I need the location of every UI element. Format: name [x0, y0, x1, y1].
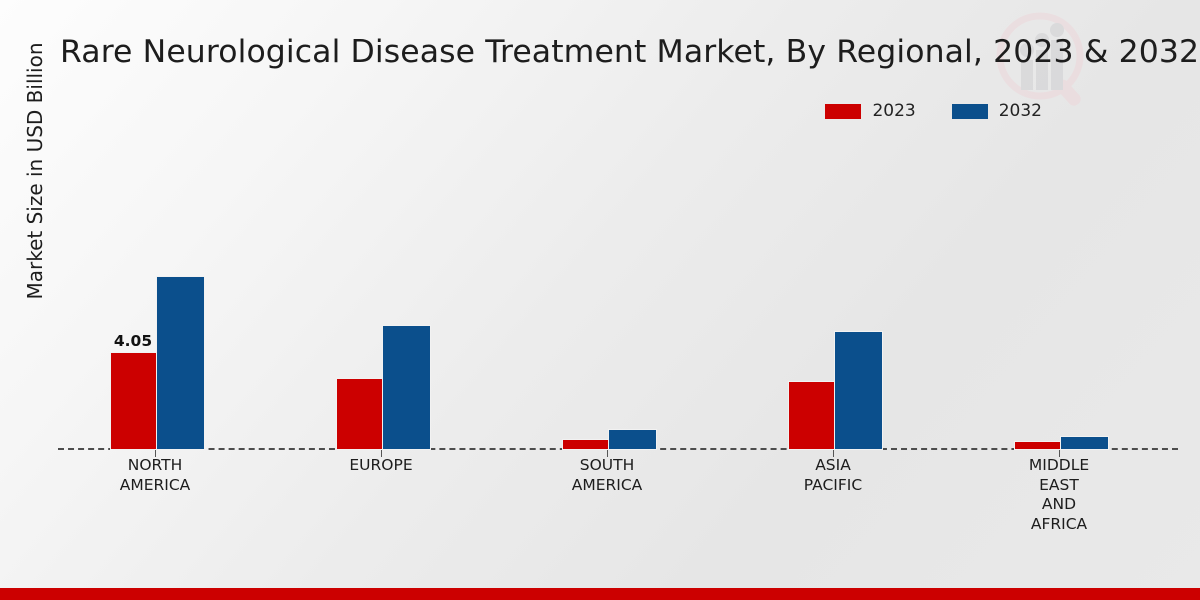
- legend-item-2023[interactable]: 2023: [825, 103, 915, 120]
- category-label-1: EUROPE: [261, 456, 501, 476]
- legend-item-2032[interactable]: 2032: [952, 103, 1042, 120]
- category-label-line: AMERICA: [487, 476, 727, 496]
- category-label-line: PACIFIC: [713, 476, 953, 496]
- category-label-line: AFRICA: [939, 515, 1179, 535]
- category-label-line: AND: [939, 495, 1179, 515]
- category-label-line: EUROPE: [261, 456, 501, 476]
- category-label-2: SOUTHAMERICA: [487, 456, 727, 495]
- category-label-0: NORTHAMERICA: [35, 456, 275, 495]
- bar-2-2023[interactable]: [562, 439, 609, 450]
- bar-1-2032[interactable]: [382, 325, 431, 450]
- plot-area: 4.05 NORTHAMERICA EUROPE SOUTHAMERICA: [58, 150, 1178, 450]
- bar-4-2032[interactable]: [1060, 436, 1109, 450]
- chart-title: Rare Neurological Disease Treatment Mark…: [60, 34, 1160, 70]
- bar-0-2032[interactable]: [156, 276, 205, 450]
- category-label-line: MIDDLE: [939, 456, 1179, 476]
- bar-3-2032[interactable]: [834, 331, 883, 450]
- category-label-4: MIDDLEEASTANDAFRICA: [939, 456, 1179, 534]
- bar-1-2023[interactable]: [336, 378, 383, 450]
- bar-4-2023[interactable]: [1014, 441, 1061, 450]
- chart-legend: 2023 2032: [825, 103, 1042, 120]
- bar-value-0-2023: 4.05: [102, 332, 164, 350]
- legend-label-2032: 2032: [999, 103, 1042, 120]
- legend-label-2023: 2023: [872, 103, 915, 120]
- bar-3-2023[interactable]: [788, 381, 835, 450]
- category-label-line: NORTH: [35, 456, 275, 476]
- legend-swatch-2032: [952, 104, 988, 119]
- category-label-line: EAST: [939, 476, 1179, 496]
- bar-0-2023[interactable]: [110, 352, 157, 450]
- bar-2-2032[interactable]: [608, 429, 657, 450]
- category-label-line: AMERICA: [35, 476, 275, 496]
- category-label-line: SOUTH: [487, 456, 727, 476]
- y-axis-title: Market Size in USD Billion: [23, 0, 51, 356]
- legend-swatch-2023: [825, 104, 861, 119]
- chart-figure: Rare Neurological Disease Treatment Mark…: [0, 0, 1200, 600]
- category-label-line: ASIA: [713, 456, 953, 476]
- footer-accent-bar: [0, 588, 1200, 600]
- category-label-3: ASIAPACIFIC: [713, 456, 953, 495]
